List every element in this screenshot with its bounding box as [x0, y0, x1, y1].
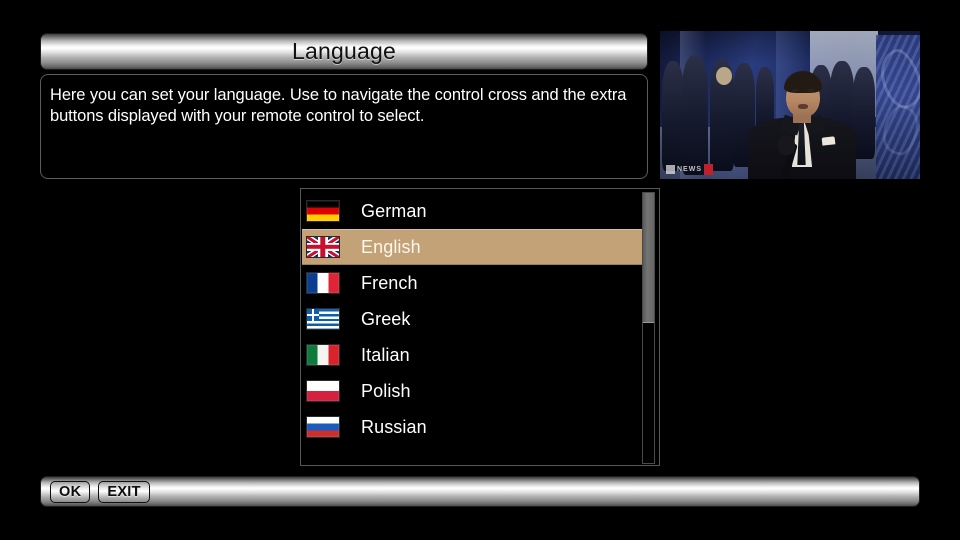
language-label: Polish — [361, 382, 411, 400]
flag-italy-icon — [306, 344, 340, 366]
language-row-french[interactable]: French — [302, 265, 644, 301]
video-crowd-figure — [682, 55, 708, 175]
flag-russia-icon — [306, 416, 340, 438]
logo-text: NEWS — [677, 166, 702, 173]
language-label: French — [361, 274, 418, 292]
list-scrollbar[interactable] — [642, 192, 655, 464]
language-list: German English French — [302, 193, 644, 445]
microphone-icon — [778, 135, 795, 155]
flag-france-icon — [306, 272, 340, 294]
video-reporter-mouth — [798, 104, 808, 109]
language-list-panel: German English French — [300, 188, 660, 466]
language-label: German — [361, 202, 427, 220]
language-label: Italian — [361, 346, 410, 364]
language-row-russian[interactable]: Russian — [302, 409, 644, 445]
description-text: Here you can set your language. Use to n… — [50, 85, 638, 127]
language-label: English — [361, 238, 421, 256]
video-preview[interactable]: NEWS — [660, 31, 920, 179]
video-crowd-figure — [853, 67, 875, 159]
flag-germany-icon — [306, 200, 340, 222]
language-row-english[interactable]: English — [302, 229, 644, 265]
language-row-italian[interactable]: Italian — [302, 337, 644, 373]
flag-greece-icon — [306, 308, 340, 330]
exit-button[interactable]: EXIT — [98, 481, 149, 503]
video-reporter-eye — [807, 89, 814, 92]
language-row-polish[interactable]: Polish — [302, 373, 644, 409]
video-reporter-pocket-square — [822, 136, 836, 145]
flag-united-kingdom-icon — [306, 236, 340, 258]
scrollbar-thumb[interactable] — [643, 193, 654, 323]
logo-accent — [704, 164, 713, 175]
video-reporter-eye — [792, 89, 799, 92]
tv-settings-screen: Language Here you can set your language.… — [0, 0, 960, 540]
page-title: Language — [292, 40, 396, 63]
news-channel-logo: NEWS — [666, 163, 742, 175]
language-row-greek[interactable]: Greek — [302, 301, 644, 337]
video-crowd-figure — [716, 67, 732, 85]
flag-poland-icon — [306, 380, 340, 402]
ok-button[interactable]: OK — [50, 481, 90, 503]
title-bar: Language — [40, 33, 648, 70]
language-label: Russian — [361, 418, 427, 436]
video-crowd-figure — [662, 61, 684, 171]
description-panel: Here you can set your language. Use to n… — [40, 74, 648, 179]
bottom-button-bar: OK EXIT — [40, 476, 920, 507]
language-row-german[interactable]: German — [302, 193, 644, 229]
logo-chip — [666, 165, 675, 174]
language-label: Greek — [361, 310, 411, 328]
